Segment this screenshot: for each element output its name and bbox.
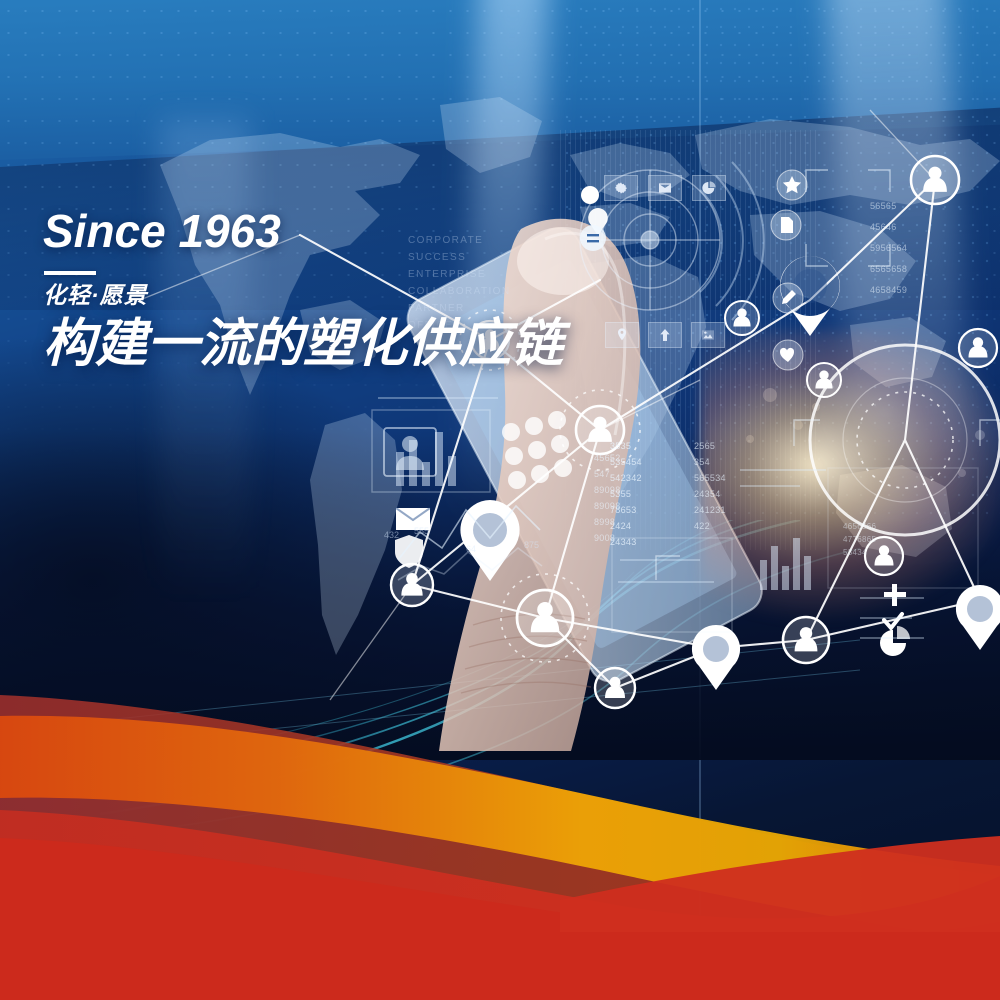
network-node [391,564,433,606]
page-title: 构建一流的塑化供应链 [43,316,563,372]
banner-canvas: 3535 535454 542342 5355 78653 2424 24343… [0,0,1000,1000]
network-node [807,363,841,397]
hud-small-number: 555 [414,526,429,536]
network-node [517,590,573,646]
envelope-icon [648,175,682,201]
pencil-icon [773,283,803,313]
hud-small-number: 432 [384,530,399,540]
document-icon [771,210,801,240]
network-node [725,301,759,335]
headline-text-block: Since 1963 化轻·愿景 构建一流的塑化供应链 [43,208,563,372]
network-node [783,617,829,663]
star-icon [777,170,807,200]
list-icon [580,225,606,251]
hud-number-column: 56565 45646 5956564 6565658 4658459 [870,196,907,301]
network-node [911,156,959,204]
gear-icon [604,175,638,201]
title-divider [44,271,96,275]
hud-number-column: 2565 354 565534 24354 241231 422 [694,438,726,534]
since-label: Since 1963 [43,208,563,254]
hud-small-number: 64 [466,544,476,554]
heart-icon [773,340,803,370]
wave-solid-footer [0,932,1000,1000]
arrow-up-icon [648,322,682,348]
hud-number-column: 45652 547 89098 89098 8998 9008 [594,450,621,546]
image-icon [691,322,725,348]
subtitle: 化轻·愿景 [43,281,563,310]
network-node [959,329,997,367]
plus-icon [884,584,906,606]
map-pin-icon [581,186,599,204]
map-pin-icon [956,585,1000,650]
hud-number-column: 4656566 4776865 53434 [843,520,876,559]
map-pin-icon [605,322,639,348]
hud-small-number: 875 [524,540,539,550]
bottom-wave-graphic [0,670,1000,1000]
pie-chart-icon [880,626,910,656]
pie-chart-icon [692,175,726,201]
